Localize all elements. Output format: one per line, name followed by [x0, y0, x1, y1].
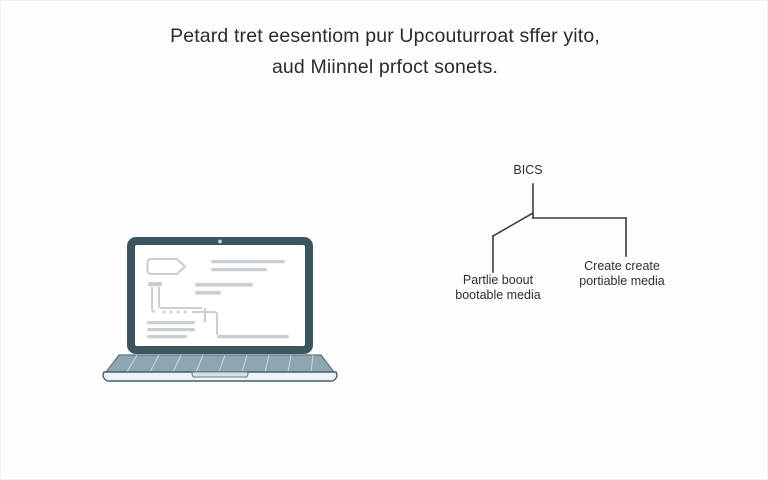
laptop-webcam-icon: [218, 240, 222, 244]
connector-left-diagonal: [493, 213, 533, 236]
screen-block: [148, 282, 162, 286]
laptop-illustration: [89, 229, 351, 389]
slide-canvas: Petard tret eesentiom pur Upcouturroat s…: [0, 0, 768, 480]
page-title-line-2: aud Miinnel prfoct sonets.: [85, 52, 685, 83]
screen-text-line: [217, 335, 289, 338]
tree-diagram: BICS Partlie boout bootable media Create…: [441, 151, 703, 311]
diagram-node-left: Partlie boout bootable media: [433, 273, 563, 303]
diagram-node-left-label-line-2: bootable media: [433, 288, 563, 303]
laptop-trackpad: [192, 372, 248, 377]
screen-text-line: [195, 283, 253, 287]
screen-text-line: [211, 268, 267, 271]
screen-text-line: [147, 335, 187, 338]
diagram-node-right-label-line-1: Create create: [557, 259, 687, 274]
laptop-illustration-svg: [89, 229, 351, 389]
diagram-node-right-label-line-2: portiable media: [557, 274, 687, 289]
screen-text-line: [147, 328, 195, 331]
page-title: Petard tret eesentiom pur Upcouturroat s…: [85, 21, 685, 83]
screen-text-line: [195, 291, 221, 295]
screen-text-line: [147, 321, 195, 324]
diagram-node-root: BICS: [493, 163, 563, 178]
diagram-node-left-label-line-1: Partlie boout: [433, 273, 563, 288]
page-title-line-1: Petard tret eesentiom pur Upcouturroat s…: [85, 21, 685, 52]
screen-text-line: [211, 260, 285, 263]
diagram-node-root-label: BICS: [513, 163, 542, 177]
diagram-node-right: Create create portiable media: [557, 259, 687, 289]
